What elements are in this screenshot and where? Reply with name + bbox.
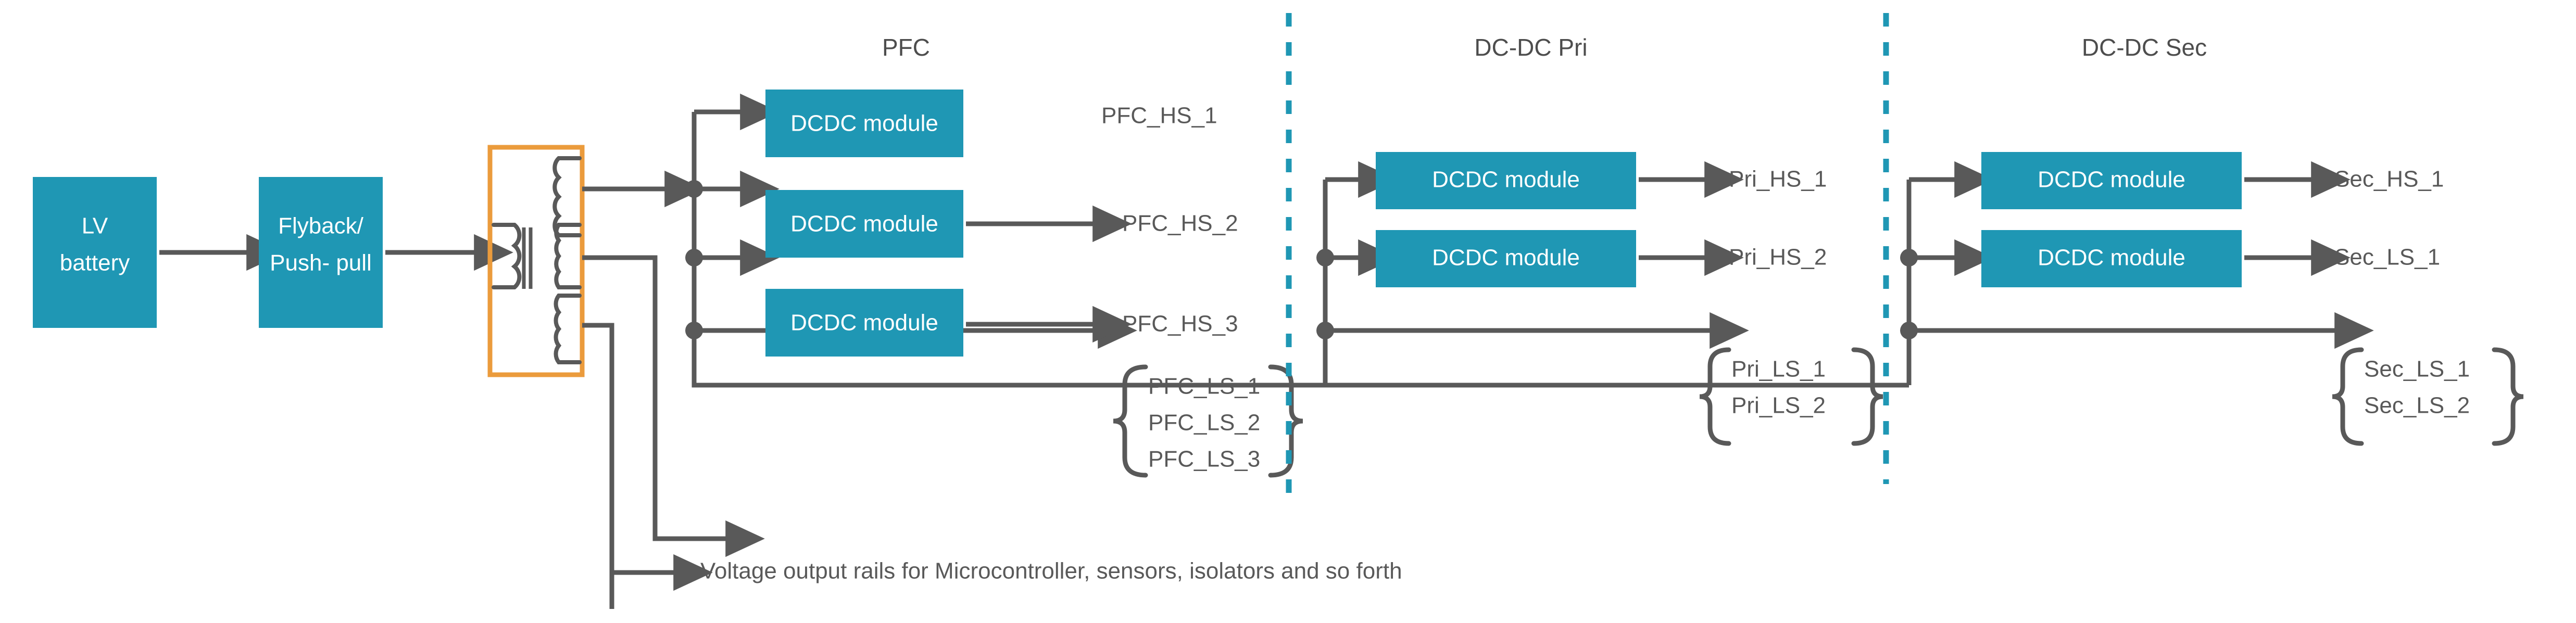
pfc-output-label-3: PFC_HS_3 <box>1122 311 1238 337</box>
pri-module-1-label: DCDC module <box>1432 167 1580 193</box>
pfc-module-1[interactable]: DCDC module <box>765 90 963 157</box>
pfc-module-3-label: DCDC module <box>790 310 938 336</box>
pfc-ls-label-1: PFC_LS_1 <box>1148 374 1260 399</box>
pfc-module-2[interactable]: DCDC module <box>765 190 963 258</box>
sec-ls-label-2: Sec_LS_2 <box>2364 393 2470 418</box>
sec-ls-label-1: Sec_LS_1 <box>2364 357 2470 382</box>
sec-module-2-label: DCDC module <box>2038 245 2185 271</box>
pfc-output-label-2: PFC_HS_2 <box>1122 211 1238 236</box>
lv-battery-block[interactable]: LV battery <box>33 177 157 328</box>
converter-label-line2: Push- pull <box>270 250 372 276</box>
section-title-dcdc-sec: DC-DC Sec <box>2082 34 2207 61</box>
sec-low-side-group: Sec_LS_1 Sec_LS_2 <box>2332 350 2523 443</box>
pri-module-2[interactable]: DCDC module <box>1376 230 1636 287</box>
pfc-ls-label-2: PFC_LS_2 <box>1148 410 1260 436</box>
sec-module-1[interactable]: DCDC module <box>1981 152 2242 209</box>
block-diagram-canvas: LV battery Flyback/ Push- pull <box>0 0 2576 623</box>
pfc-module-2-label: DCDC module <box>790 211 938 237</box>
pri-low-side-group: Pri_LS_1 Pri_LS_2 <box>1700 350 1883 443</box>
sec-output-label-2: Sec_LS_1 <box>2334 245 2440 270</box>
pri-module-2-label: DCDC module <box>1432 245 1580 271</box>
flyback-pushpull-block[interactable]: Flyback/ Push- pull <box>259 177 383 328</box>
transformer-output-bottom-wire <box>582 325 612 609</box>
pri-ls-label-2: Pri_LS_2 <box>1731 393 1826 418</box>
section-title-dcdc-pri: DC-DC Pri <box>1474 34 1587 61</box>
converter-label-line1: Flyback/ <box>278 213 364 239</box>
lv-battery-label-line2: battery <box>60 250 130 276</box>
pfc-module-3[interactable]: DCDC module <box>765 289 963 357</box>
voltage-output-note-rail <box>612 325 674 573</box>
pfc-ls-label-3: PFC_LS_3 <box>1148 447 1260 472</box>
pri-ls-label-1: Pri_LS_1 <box>1731 357 1826 382</box>
footer-note: Voltage output rails for Microcontroller… <box>700 558 1402 584</box>
pri-output-label-2: Pri_HS_2 <box>1729 245 1827 270</box>
sec-output-label-1: Sec_HS_1 <box>2334 167 2444 192</box>
pfc-output-label-1: PFC_HS_1 <box>1101 103 1217 129</box>
pfc-module-1-label: DCDC module <box>790 111 938 136</box>
pri-output-label-1: Pri_HS_1 <box>1729 167 1827 192</box>
sec-module-2[interactable]: DCDC module <box>1981 230 2242 287</box>
pri-module-1[interactable]: DCDC module <box>1376 152 1636 209</box>
section-title-pfc: PFC <box>882 34 930 61</box>
multi-output-transformer[interactable] <box>490 147 582 375</box>
lv-battery-label-line1: LV <box>82 213 108 239</box>
sec-module-1-label: DCDC module <box>2038 167 2185 193</box>
transformer-output-mid-wire <box>582 258 726 539</box>
